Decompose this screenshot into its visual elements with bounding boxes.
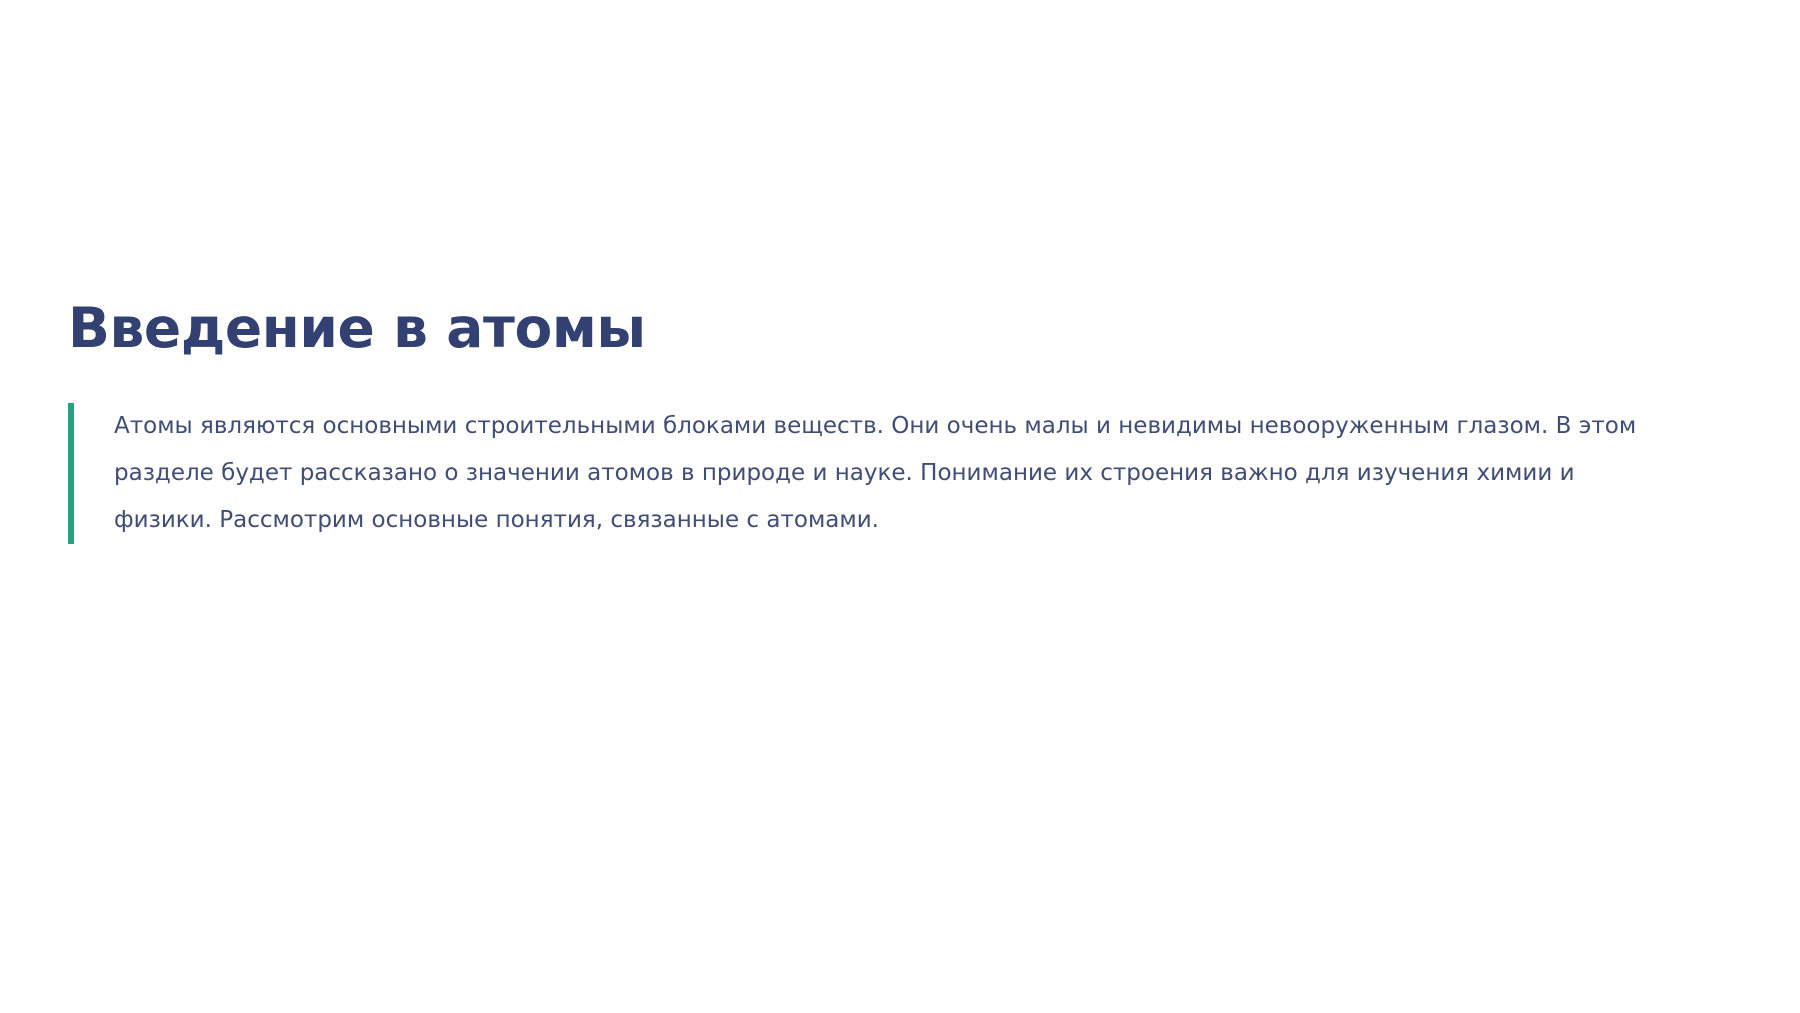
body-text-container: Атомы являются основными строительными б… [68,403,1708,544]
page-title: Введение в атомы [68,296,1708,361]
body-paragraph: Атомы являются основными строительными б… [114,403,1674,544]
slide-content-block: Введение в атомы Атомы являются основным… [68,296,1708,544]
left-accent-bar [68,403,74,544]
slide-canvas: Введение в атомы Атомы являются основным… [0,0,1800,1013]
